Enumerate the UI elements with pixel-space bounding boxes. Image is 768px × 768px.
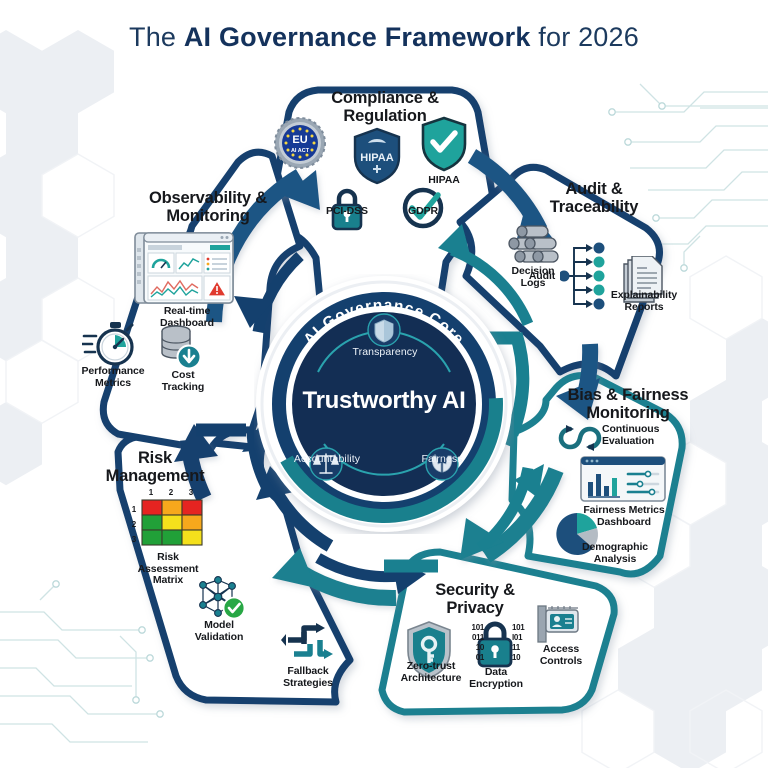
label-demographic-analysis: Demographic Analysis [568, 542, 662, 565]
risk-matrix-cell [162, 515, 182, 530]
badge-reader-icon [534, 604, 582, 648]
svg-text:1: 1 [149, 488, 154, 497]
bar-dashboard-icon [580, 456, 666, 502]
risk-matrix-cell [142, 530, 162, 545]
label-fallback-strategies: Fallback Strategies [270, 666, 346, 689]
core-main-label: Trustworthy AI [284, 388, 484, 413]
encryption-bits-left: 101 011 10 01 [462, 623, 484, 663]
svg-text:2: 2 [132, 520, 137, 529]
core-pillar-label-transparency: Transparency [330, 346, 440, 358]
risk-matrix-cell [162, 530, 182, 545]
label-audit: Audit [520, 271, 564, 283]
svg-text:HIPAA: HIPAA [360, 152, 393, 164]
dashboard-window-icon [134, 232, 234, 304]
hipaa-shield-icon: HIPAA [352, 127, 402, 185]
stopwatch-icon [82, 320, 138, 370]
label-cost-tracking: Cost Tracking [152, 370, 214, 393]
title-lead: The [129, 22, 184, 52]
label-gdpr: GDPR [392, 206, 454, 218]
log-stack-icon [508, 224, 560, 266]
core-pillar-label-fairness: Fairness [387, 453, 497, 465]
infinity-loop-icon [556, 422, 604, 456]
label-continuous-evaluation: Continuous Evaluation [602, 424, 680, 447]
risk-matrix-cell [182, 500, 202, 515]
title-emphasis: AI Governance Framework [184, 22, 531, 52]
loop-arrows-icon [280, 620, 336, 668]
svg-text:2: 2 [169, 488, 174, 497]
core-pillar-label-accountability: Accountability [271, 453, 383, 465]
segment-title-observability: Observability & Monitoring [142, 190, 274, 225]
label-pci-dss: PCI-DSS [315, 206, 379, 218]
label-data-encryption: Data Encryption [460, 667, 532, 690]
risk-matrix-cell [142, 500, 162, 515]
label-access-controls: Access Controls [530, 644, 592, 667]
svg-text:1: 1 [132, 505, 137, 514]
svg-text:EU: EU [292, 134, 307, 146]
label-performance-metrics: Performance Metrics [74, 366, 152, 389]
page-title: The AI Governance Framework for 2026 [0, 22, 768, 53]
risk-matrix-icon[interactable]: 1 2 3 1 2 3 [126, 486, 210, 550]
segment-title-risk: Risk Management [92, 450, 218, 485]
svg-text:AI ACT: AI ACT [291, 148, 310, 154]
risk-matrix-cell [182, 530, 202, 545]
svg-text:3: 3 [189, 488, 194, 497]
label-model-validation: Model Validation [186, 620, 252, 643]
label-zero-trust-architecture: Zero-trust Architecture [398, 661, 464, 684]
segment-title-bias: Bias & Fairness Monitoring [556, 387, 700, 422]
shield-icon [368, 314, 400, 346]
check-shield-icon [420, 116, 468, 172]
risk-matrix-cell [182, 515, 202, 530]
risk-matrix-cell [142, 515, 162, 530]
title-trail: for 2026 [531, 22, 639, 52]
database-down-icon [156, 324, 206, 372]
label-explainability-reports: Explainability Reports [598, 290, 690, 313]
neural-check-icon [194, 575, 246, 621]
eu-seal-icon: EU AI ACT [274, 117, 326, 169]
risk-matrix-cell [162, 500, 182, 515]
svg-text:3: 3 [132, 535, 137, 544]
segment-title-audit: Audit & Traceability [528, 181, 660, 216]
segment-title-security: Security & Privacy [420, 582, 530, 617]
